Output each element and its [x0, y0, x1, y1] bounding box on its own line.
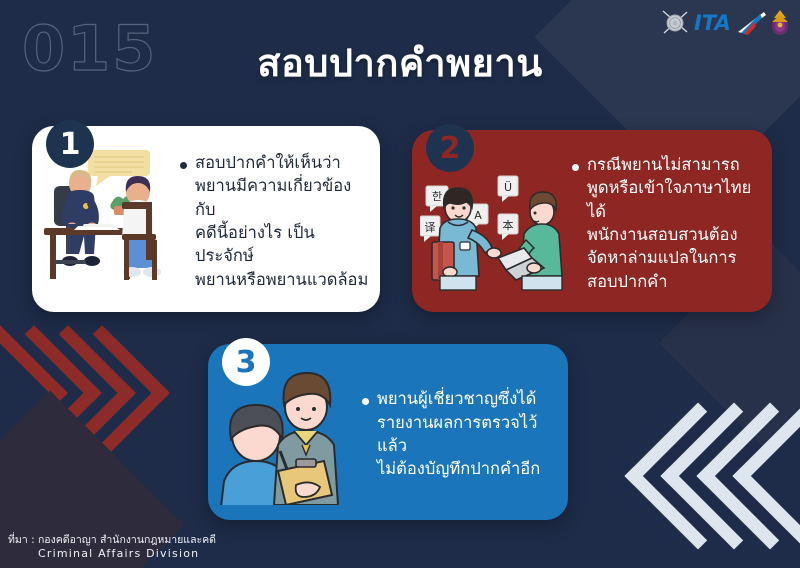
card-body-2: กรณีพยานไม่สามารถ พูดหรือเข้าใจภาษาไทยได…: [587, 153, 762, 294]
garuda-emblem-icon: [770, 8, 790, 38]
card-badge-2: 2: [426, 124, 474, 172]
footer-source-th: ที่มา : กองคดีอาญา สำนักงานกฎหมายและคดี: [8, 533, 216, 547]
card-text-block-1: สอบปากคำให้เห็นว่า พยานมีความเกี่ยวข้องก…: [180, 147, 370, 292]
svg-text:译: 译: [425, 221, 436, 234]
card-text-block-3: พยานผู้เชี่ยวชาญซึ่งได้ รายงานผลการตรวจไ…: [362, 383, 558, 481]
svg-text:Ü: Ü: [504, 181, 512, 194]
info-card-1[interactable]: 1: [32, 126, 380, 312]
language-tag-zh: 译: [420, 216, 440, 242]
svg-text:A: A: [474, 209, 482, 222]
card-text-block-2: กรณีพยานไม่สามารถ พูดหรือเข้าใจภาษาไทยได…: [572, 149, 762, 294]
logo-bar: ITA: [660, 6, 790, 40]
language-tag-ja: 本: [498, 214, 518, 240]
card-body-1: สอบปากคำให้เห็นว่า พยานมีความเกี่ยวข้องก…: [195, 151, 370, 292]
svg-text:本: 本: [503, 218, 514, 232]
footer-source-en: Criminal Affairs Division: [8, 547, 216, 562]
card-badge-1: 1: [46, 120, 94, 168]
info-card-3[interactable]: 3: [208, 344, 568, 520]
svg-text:한: 한: [432, 190, 442, 203]
language-tag-de: Ü: [498, 176, 518, 202]
slide-root: 015 สอบปากคำพยาน ITA: [0, 0, 800, 568]
svg-text:ITA: ITA: [694, 11, 731, 35]
bullet-icon: [362, 398, 369, 405]
info-card-2[interactable]: 2 한 Ü: [412, 130, 772, 312]
footer-source: ที่มา : กองคดีอาญา สำนักงานกฎหมายและคดี …: [8, 533, 216, 562]
ita-wordmark-icon: ITA: [694, 10, 766, 36]
page-title: สอบปากคำพยาน: [0, 32, 800, 93]
bullet-icon: [180, 162, 187, 169]
card-badge-3: 3: [222, 338, 270, 386]
card-body-3: พยานผู้เชี่ยวชาญซึ่งได้ รายงานผลการตรวจไ…: [377, 387, 558, 481]
bullet-icon: [572, 164, 579, 171]
ita-seal-icon: [660, 8, 690, 38]
